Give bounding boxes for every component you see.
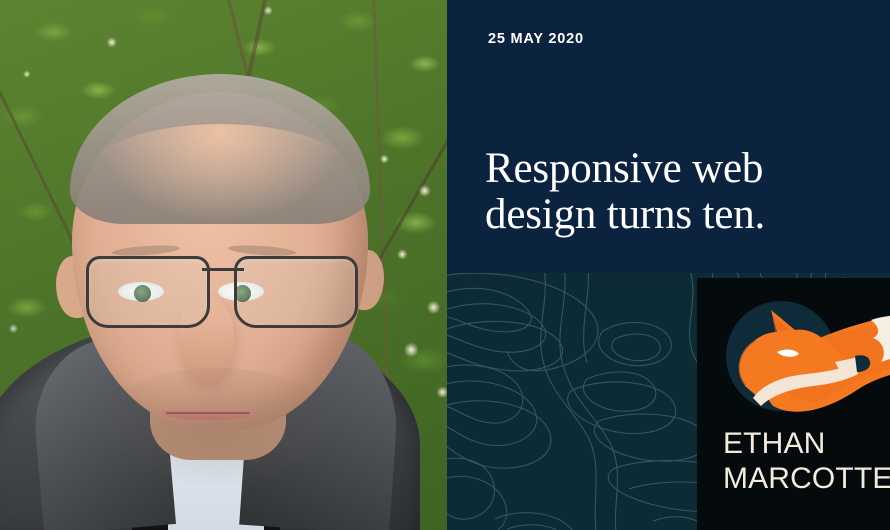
headline-panel: 25 MAY 2020 Responsive web design turns …: [447, 0, 890, 273]
brand-line-1: ETHAN: [723, 427, 825, 460]
beard-stubble: [96, 368, 340, 488]
page-title: Responsive web design turns ten.: [485, 146, 875, 239]
glasses: [86, 256, 358, 330]
publish-date: 25 MAY 2020: [488, 31, 584, 47]
glasses-lens-left: [86, 256, 210, 328]
glasses-bridge: [202, 268, 244, 271]
glasses-lens-right: [234, 256, 358, 328]
hair: [70, 74, 370, 224]
brand-logo-block[interactable]: ETHAN MARCOTTE: [697, 278, 890, 530]
fox-logo-icon: [715, 294, 890, 424]
brand-line-2: MARCOTTE: [723, 462, 890, 495]
article-share-card: 25 MAY 2020 Responsive web design turns …: [0, 0, 890, 530]
headline-line-2: design turns ten.: [485, 191, 765, 238]
mouth: [162, 406, 254, 420]
portrait-subject: [0, 0, 447, 530]
author-photo: [0, 0, 447, 530]
brand-wordmark: ETHAN MARCOTTE: [723, 426, 890, 496]
headline-line-1: Responsive web: [485, 145, 763, 192]
